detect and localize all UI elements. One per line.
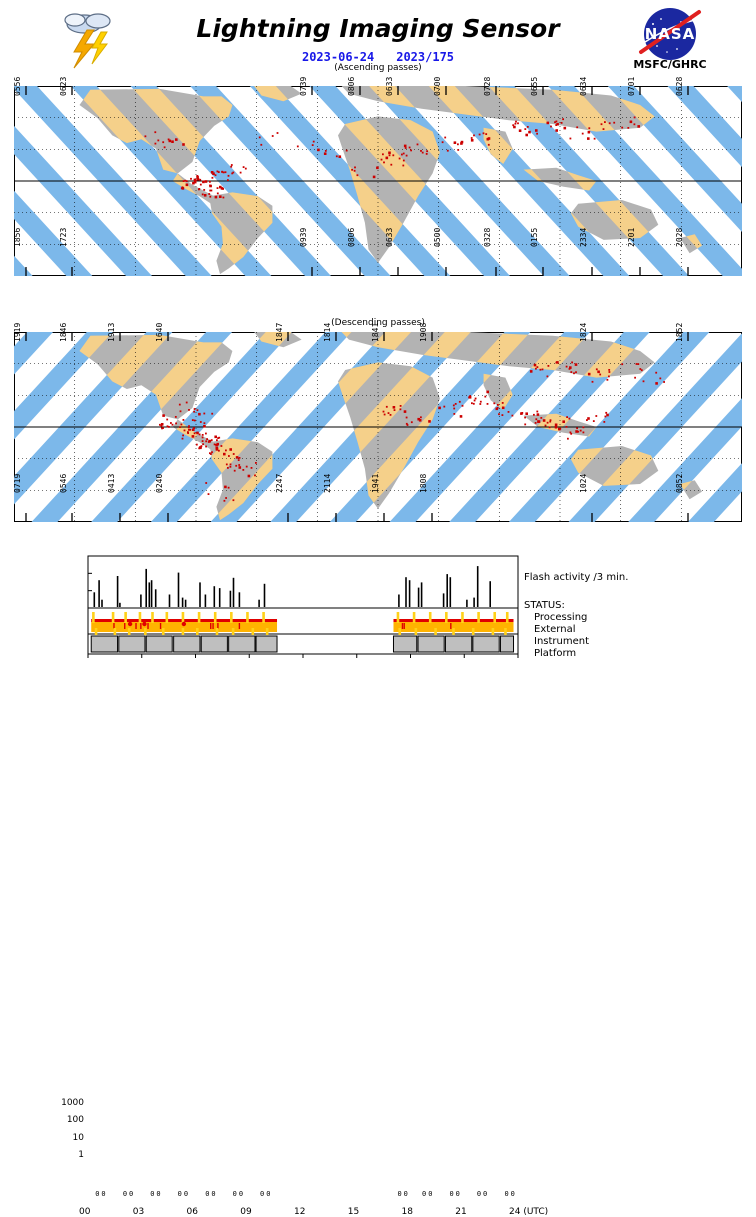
orbit-time-label: 2201: [627, 227, 636, 246]
orbit-time-label: 0155: [530, 227, 539, 246]
date-line: 2023-06-242023/175: [178, 50, 578, 64]
orbit-time-label: 1808: [419, 473, 428, 492]
page-title: Lightning Imaging Sensor: [178, 14, 578, 43]
x-axis-tick-label: 00: [79, 1207, 90, 1217]
x-axis-tick-label: 09: [240, 1207, 251, 1217]
orbit-time-label: 1814: [323, 323, 332, 342]
legend-processing: Processing: [534, 612, 587, 623]
legend-status-header: STATUS:: [524, 600, 565, 611]
orbit-time-label: 1846: [59, 323, 68, 342]
x-axis-tick-label: 18: [402, 1207, 413, 1217]
orbit-time-label: 0719: [13, 473, 22, 492]
orbit-time-label: 0633: [385, 77, 394, 96]
x-axis-tick-label: 24 (UTC): [509, 1207, 548, 1217]
orbit-time-label: 0634: [579, 77, 588, 96]
x-axis-tick-label: 15: [348, 1207, 359, 1217]
orbit-time-label: 0739: [299, 77, 308, 96]
orbit-time-label: 0500: [433, 227, 442, 246]
thundercloud-icon: [60, 8, 120, 70]
ascending-passes-map: 0556062307390806063307000728065506340701…: [14, 86, 742, 276]
orbit-time-label: 1024: [579, 473, 588, 492]
x-axis-tick-label: 12: [294, 1207, 305, 1217]
platform-orbit-cell: 00: [203, 1185, 225, 1203]
orbit-time-label: 0546: [59, 473, 68, 492]
orbit-time-label: 1847: [275, 323, 284, 342]
platform-orbit-cell: 00: [176, 1185, 198, 1203]
descending-passes-map: 1919184619131640184718141841190818241852…: [14, 332, 742, 522]
orbit-time-label: 0413: [107, 473, 116, 492]
platform-orbit-cell: 00: [93, 1185, 115, 1203]
orbit-time-label: 2114: [323, 473, 332, 492]
orbit-time-label: 0240: [155, 473, 164, 492]
orbit-time-label: 1856: [13, 227, 22, 246]
x-axis-tick-label: 06: [187, 1207, 198, 1217]
orbit-time-label: 1908: [419, 323, 428, 342]
chart-canvas: [0, 548, 756, 680]
doy-value: 2023/175: [396, 50, 454, 64]
orbit-time-label: 0806: [347, 227, 356, 246]
orbit-time-label: 1919: [13, 323, 22, 342]
descending-map-canvas: [14, 332, 742, 522]
orbit-time-label: 1723: [59, 227, 68, 246]
orbit-time-label: 0633: [385, 227, 394, 246]
platform-orbit-cell: 00: [502, 1185, 511, 1203]
date-value: 2023-06-24: [302, 50, 374, 64]
orbit-time-label: 2028: [675, 227, 684, 246]
legend-flash-activity: Flash activity /3 min.: [524, 572, 628, 583]
orbit-time-label: 0852: [675, 473, 684, 492]
legend-external: External: [534, 624, 576, 635]
svg-text:NASA: NASA: [645, 25, 696, 43]
orbit-time-label: 1913: [107, 323, 116, 342]
y-axis-tick-label: 1: [50, 1150, 84, 1160]
platform-orbit-cell: 00: [395, 1185, 414, 1203]
orbit-time-label: 0556: [13, 77, 22, 96]
orbit-time-label: 0806: [347, 77, 356, 96]
orbit-time-label: 0700: [433, 77, 442, 96]
orbit-time-label: 2334: [579, 227, 588, 246]
ascending-caption: (Ascending passes): [178, 63, 578, 73]
page-header: Lightning Imaging Sensor 2023-06-242023/…: [0, 0, 756, 78]
platform-orbit-cell: 00: [420, 1185, 442, 1203]
platform-orbit-cell: 00: [231, 1185, 253, 1203]
orbit-time-label: 0655: [530, 77, 539, 96]
platform-orbit-cell: 00: [121, 1185, 143, 1203]
platform-orbit-cell: 00: [447, 1185, 469, 1203]
orbit-time-label: 0628: [675, 77, 684, 96]
x-axis-tick-label: 03: [133, 1207, 144, 1217]
platform-orbit-cell: 00: [475, 1185, 497, 1203]
orbit-time-label: 0939: [299, 227, 308, 246]
orbit-time-label: 0728: [483, 77, 492, 96]
orbit-time-label: 1852: [675, 323, 684, 342]
orbit-time-label: 0701: [627, 77, 636, 96]
legend-platform: Platform: [534, 648, 576, 659]
orbit-time-label: 1941: [371, 473, 380, 492]
y-axis-tick-label: 10: [50, 1133, 84, 1143]
agency-label: MSFC/GHRC: [612, 58, 728, 71]
orbit-time-label: 0328: [483, 227, 492, 246]
orbit-time-label: 1841: [371, 323, 380, 342]
orbit-time-label: 2247: [275, 473, 284, 492]
flash-activity-chart: 1101001000000000000000000000000000000306…: [0, 548, 756, 680]
orbit-time-label: 1640: [155, 323, 164, 342]
x-axis-tick-label: 21: [455, 1207, 466, 1217]
platform-orbit-cell: 00: [258, 1185, 275, 1203]
orbit-time-label: 0623: [59, 77, 68, 96]
y-axis-tick-label: 1000: [50, 1098, 84, 1108]
y-axis-tick-label: 100: [50, 1115, 84, 1125]
platform-orbit-cell: 00: [148, 1185, 170, 1203]
orbit-time-label: 1824: [579, 323, 588, 342]
legend-instrument: Instrument: [534, 636, 589, 647]
ascending-map-canvas: [14, 86, 742, 276]
